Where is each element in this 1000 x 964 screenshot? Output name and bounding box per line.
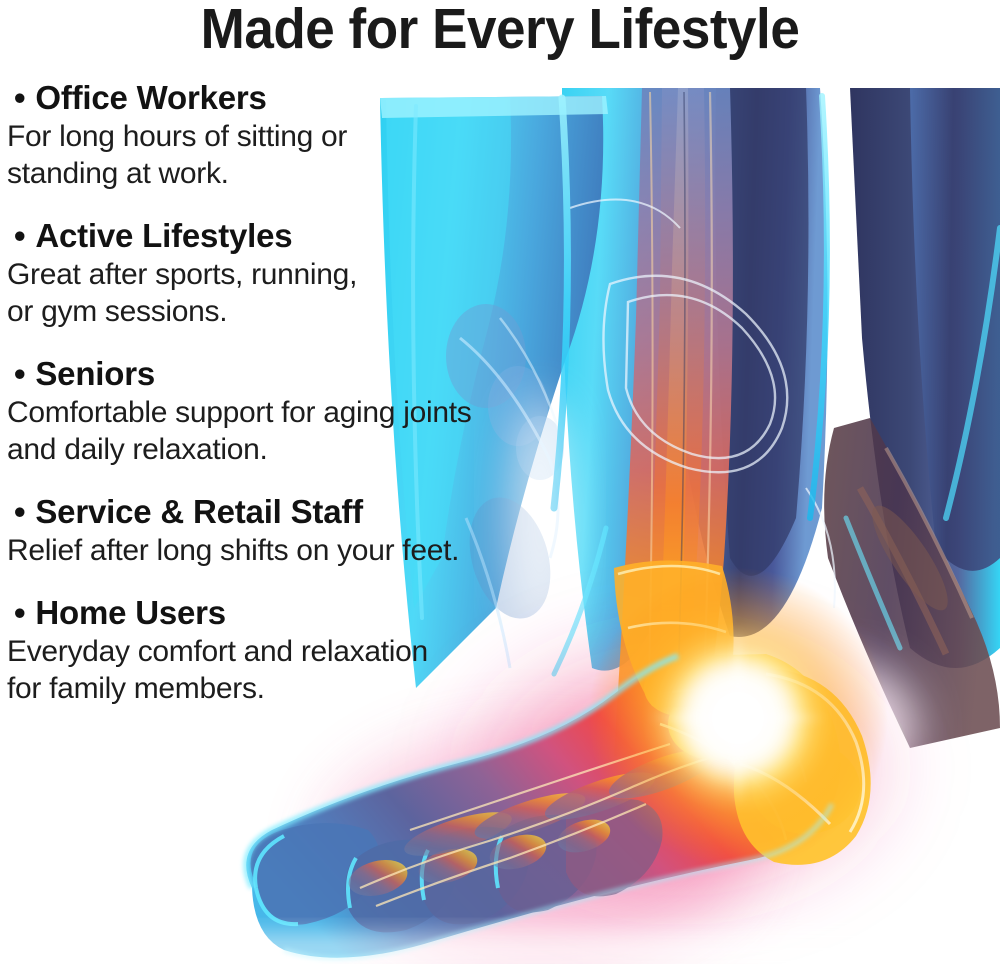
- benefit-office-workers: •Office Workers For long hours of sittin…: [0, 78, 560, 192]
- bullet-icon: •: [14, 78, 25, 118]
- spacer: [0, 468, 560, 492]
- page-title: Made for Every Lifestyle: [35, 0, 965, 60]
- bullet-icon: •: [14, 593, 25, 633]
- benefit-heading: •Seniors: [0, 354, 560, 394]
- benefit-service-retail-staff: •Service & Retail Staff Relief after lon…: [0, 492, 560, 569]
- benefit-active-lifestyles: •Active Lifestyles Great after sports, r…: [0, 216, 560, 330]
- benefit-body: Great after sports, running, or gym sess…: [0, 256, 560, 330]
- benefit-home-users: •Home Users Everyday comfort and relaxat…: [0, 593, 560, 707]
- benefit-body: Relief after long shifts on your feet.: [0, 532, 560, 569]
- benefit-heading-text: Seniors: [35, 355, 155, 392]
- benefit-body: Everyday comfort and relaxation for fami…: [0, 633, 560, 707]
- benefits-list: •Office Workers For long hours of sittin…: [0, 78, 560, 707]
- poster-root: Made for Every Lifestyle •Office Workers…: [0, 0, 1000, 964]
- benefit-heading: •Home Users: [0, 593, 560, 633]
- benefit-seniors: •Seniors Comfortable support for aging j…: [0, 354, 560, 468]
- benefit-body: For long hours of sitting or standing at…: [0, 118, 560, 192]
- ankle-joint-pain-point: [588, 568, 888, 868]
- spacer: [0, 192, 560, 216]
- benefit-heading-text: Active Lifestyles: [35, 217, 292, 254]
- benefit-heading: •Service & Retail Staff: [0, 492, 560, 532]
- benefit-body: Comfortable support for aging joints and…: [0, 394, 560, 468]
- spacer: [0, 330, 560, 354]
- benefit-heading-text: Office Workers: [35, 79, 266, 116]
- benefit-heading: •Office Workers: [0, 78, 560, 118]
- bullet-icon: •: [14, 354, 25, 394]
- benefit-heading-text: Service & Retail Staff: [35, 493, 363, 530]
- benefit-heading-text: Home Users: [35, 594, 226, 631]
- bullet-icon: •: [14, 216, 25, 256]
- bullet-icon: •: [14, 492, 25, 532]
- benefit-heading: •Active Lifestyles: [0, 216, 560, 256]
- spacer: [0, 569, 560, 593]
